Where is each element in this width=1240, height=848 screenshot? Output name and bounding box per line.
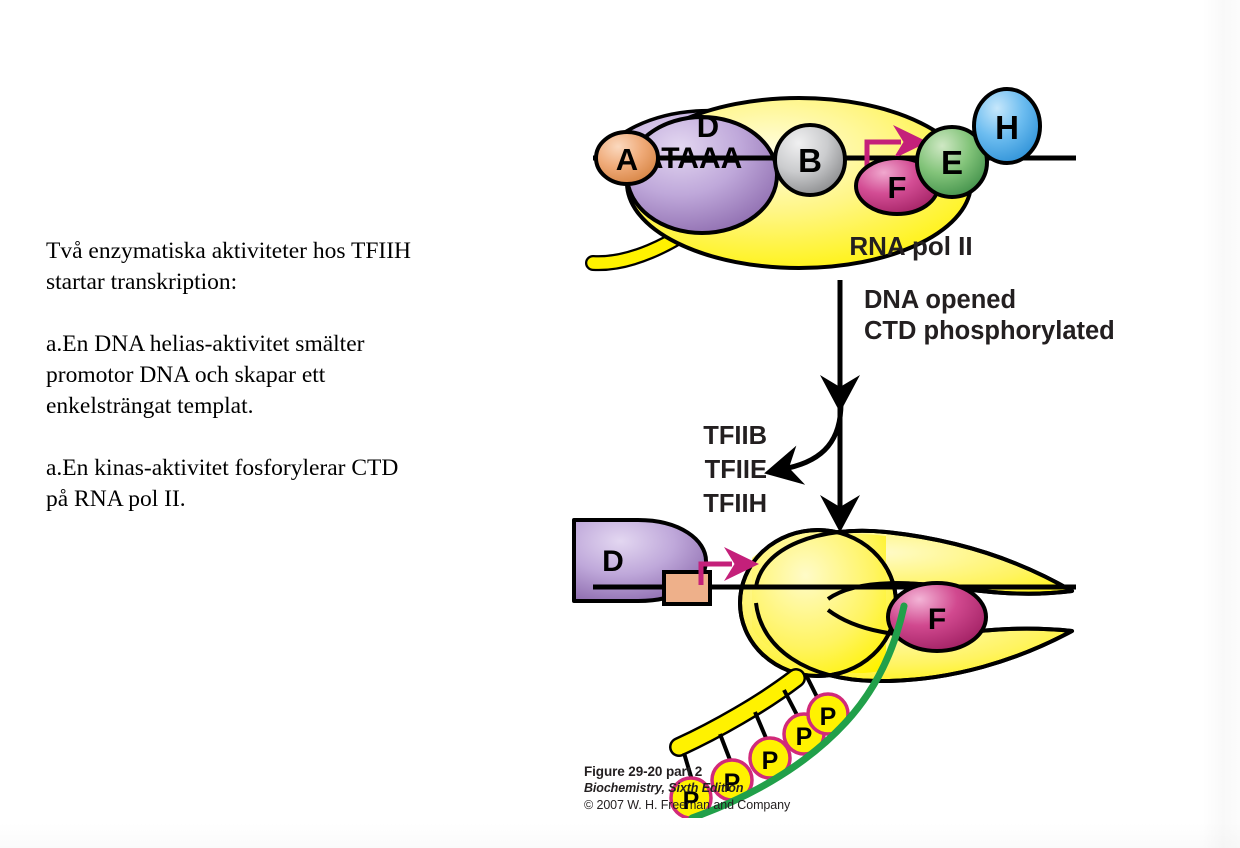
phosphate-label: P: [820, 703, 837, 731]
released-factor-3: TFIIH: [703, 490, 767, 518]
subunit-d-label: D: [697, 109, 719, 144]
subunit-b-label: B: [798, 142, 822, 179]
subunit-f-label-top: F: [888, 170, 907, 205]
transition-group: DNA opened CTD phosphorylated TFIIB TFII…: [703, 280, 1115, 518]
phosphate-label: P: [762, 747, 779, 775]
text-line-2: startar transkription:: [46, 267, 496, 298]
figure-caption-source: Biochemistry, Sixth Edition: [584, 781, 743, 795]
released-factor-2: TFIIE: [705, 456, 767, 484]
figure-caption-title: Figure 29-20 part 2: [584, 764, 702, 779]
released-factors-arrow: [788, 403, 841, 468]
text-line-4: promotor DNA och skapar ett: [46, 360, 496, 391]
slide-canvas: Två enzymatiska aktiviteter hos TFIIH st…: [0, 0, 1240, 848]
subunit-d-label-bottom: D: [602, 545, 624, 578]
step-label-line1: DNA opened: [864, 286, 1016, 314]
figure-caption-copyright: © 2007 W. H. Freeman and Company: [584, 798, 790, 812]
bottom-edge-shade: [0, 822, 1240, 848]
text-spacer-2: [46, 422, 496, 453]
phosphate-label: P: [796, 723, 813, 751]
text-line-3: a.En DNA helias-aktivitet smälter: [46, 329, 496, 360]
transcription-figure: TATAAA A D B F E H: [556, 58, 1196, 818]
right-edge-shade: [1202, 0, 1240, 848]
rna-pol-ii-label: RNA pol II: [849, 231, 972, 261]
top-preinitiation-complex: TATAAA A D B F E H: [593, 89, 1076, 268]
subunit-h-label: H: [995, 109, 1019, 146]
text-line-1: Två enzymatiska aktiviteter hos TFIIH: [46, 236, 496, 267]
text-line-5: enkelsträngat templat.: [46, 391, 496, 422]
subunit-a-label: A: [616, 142, 638, 177]
text-line-7: på RNA pol II.: [46, 484, 496, 515]
step-label-line2: CTD phosphorylated: [864, 317, 1115, 345]
released-factor-1: TFIIB: [703, 422, 767, 450]
text-line-6: a.En kinas-aktivitet fosforylerar CTD: [46, 453, 496, 484]
slide-body-text: Två enzymatiska aktiviteter hos TFIIH st…: [46, 236, 496, 515]
subunit-f-label-bottom: F: [928, 603, 946, 636]
subunit-e-label: E: [941, 144, 963, 181]
ctd-tail-bottom-fill: [679, 678, 796, 747]
text-spacer-1: [46, 298, 496, 329]
